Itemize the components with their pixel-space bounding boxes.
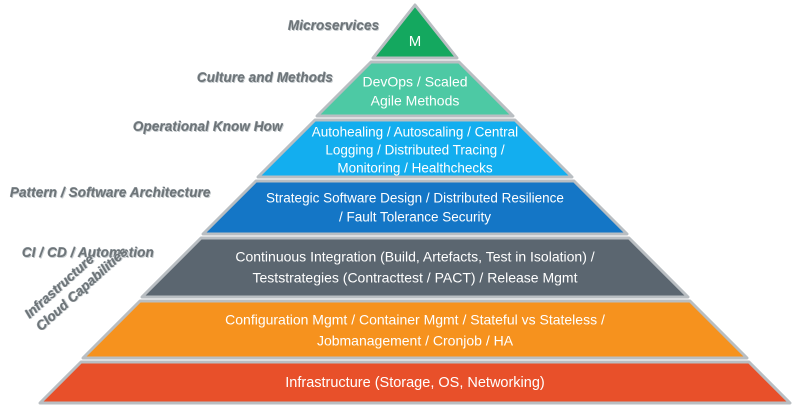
tier-pattern-software-architecture[interactable]: Strategic Software Design / Distributed …: [203, 181, 627, 234]
tier-infrastructure-cloud-capabilities-line-1: Jobmanagement / Cronjob / HA: [317, 333, 514, 349]
pyramid-graphic: M DevOps / Scaled Agile Methods Autoheal…: [0, 0, 797, 410]
tier-operational-know-how[interactable]: Autohealing / Autoscaling / Central Logg…: [258, 120, 572, 177]
tier-culture-and-methods-line-1: Agile Methods: [371, 93, 460, 109]
tier-operational-know-how-line-2: Monitoring / Healthchecks: [337, 161, 493, 176]
tier-pattern-software-architecture-line-0: Strategic Software Design / Distributed …: [266, 191, 564, 206]
side-label-pattern-software-architecture: Pattern / Software Architecture: [10, 185, 211, 200]
tier-pattern-software-architecture-shape: [203, 181, 627, 234]
tier-infrastructure-cloud-capabilities-line-0: Configuration Mgmt / Container Mgmt / St…: [225, 312, 605, 328]
tier-pattern-software-architecture-line-1: / Fault Tolerance Security: [339, 210, 491, 225]
tier-microservices-line-0: M: [409, 33, 422, 50]
tier-microservices[interactable]: M: [373, 5, 457, 58]
side-label-microservices: Microservices: [288, 18, 379, 33]
tier-operational-know-how-line-1: Logging / Distributed Tracing /: [325, 143, 505, 158]
tier-culture-and-methods-line-0: DevOps / Scaled: [362, 74, 467, 90]
tier-ci-cd-automation-shape: [142, 238, 688, 297]
tier-infrastructure-line-0: Infrastructure (Storage, OS, Networking): [285, 375, 545, 391]
tier-ci-cd-automation-line-1: Teststrategies (Contracttest / PACT) / R…: [253, 270, 578, 286]
tier-ci-cd-automation-line-0: Continuous Integration (Build, Artefacts…: [235, 249, 594, 265]
tier-microservices-shape: [373, 5, 457, 58]
side-label-operational-know-how: Operational Know How: [133, 119, 283, 134]
tier-ci-cd-automation[interactable]: Continuous Integration (Build, Artefacts…: [142, 238, 688, 297]
tier-operational-know-how-line-0: Autohealing / Autoscaling / Central: [312, 125, 518, 140]
tier-infrastructure[interactable]: Infrastructure (Storage, OS, Networking): [40, 362, 790, 403]
tier-culture-and-methods[interactable]: DevOps / Scaled Agile Methods: [317, 62, 513, 116]
tier-infrastructure-cloud-capabilities[interactable]: Configuration Mgmt / Container Mgmt / St…: [83, 301, 747, 358]
pyramid-diagram: M DevOps / Scaled Agile Methods Autoheal…: [0, 0, 797, 410]
side-label-culture-and-methods: Culture and Methods: [197, 70, 333, 85]
tier-infrastructure-cloud-capabilities-shape: [83, 301, 747, 358]
